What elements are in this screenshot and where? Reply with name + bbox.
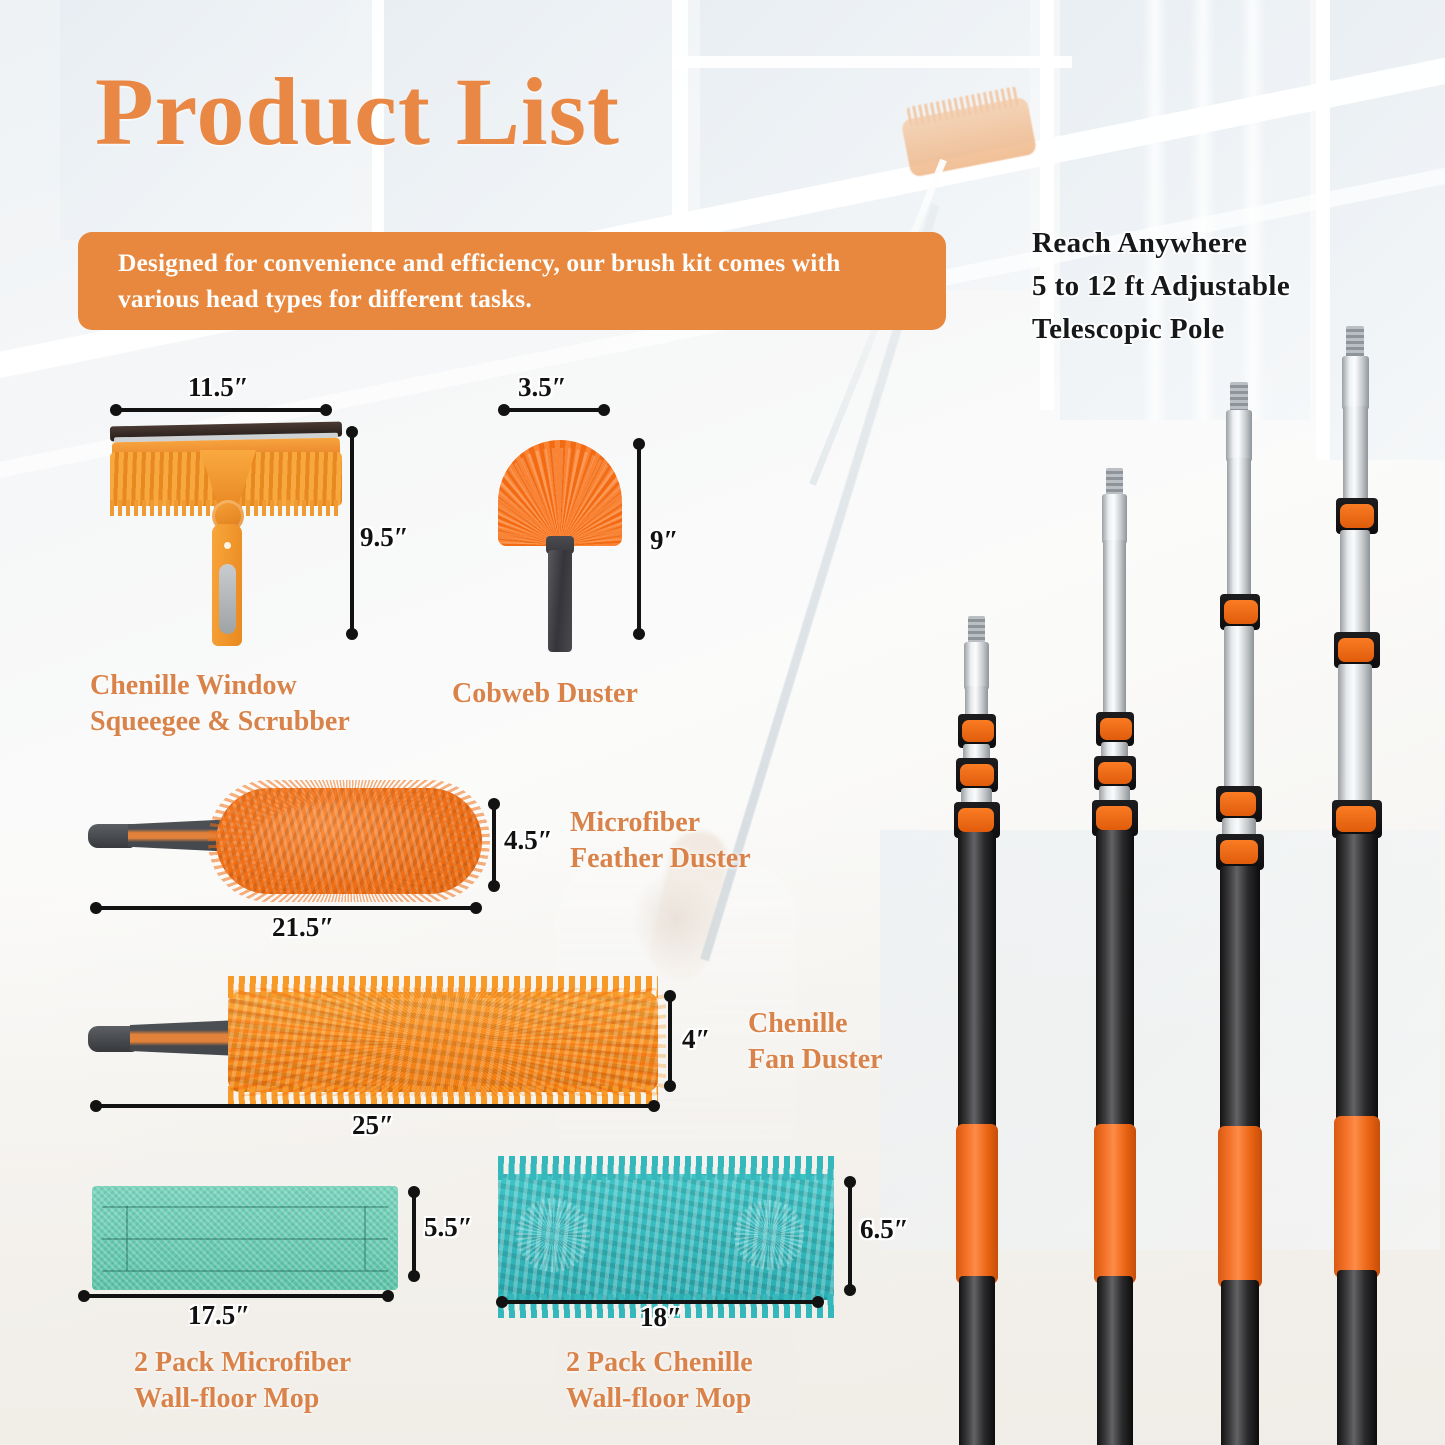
squeegee-grip-insert [219, 564, 236, 634]
dimension-line-cobweb-width [500, 408, 608, 412]
feather-duster-head [216, 788, 482, 894]
pole-1-black-shaft [958, 832, 996, 1132]
pole-1-black-shaft-lower [959, 1276, 995, 1445]
product-image-cobweb-duster [490, 440, 630, 655]
product-label-cobweb-duster: Cobweb Duster [452, 676, 638, 712]
dimension-line-fanduster-width [92, 1104, 658, 1108]
curtain-fold [1190, 0, 1216, 420]
dimension-label-chmop-height: 6.5″ [860, 1214, 909, 1245]
pole-2-clamp-lever [1096, 806, 1132, 830]
reach-line-3: Telescopic Pole [1032, 308, 1290, 351]
pole-4-clamp-lever [1336, 806, 1376, 832]
curtain-fold [1240, 0, 1266, 420]
feather-duster-end-grip [88, 824, 134, 848]
fan-duster-end-grip [88, 1026, 136, 1052]
infographic-canvas: Product List Designed for convenience an… [0, 0, 1445, 1445]
product-image-microfiber-feather-duster [88, 788, 488, 896]
dimension-label-chmop-width: 18″ [640, 1302, 682, 1333]
dimension-label-fanduster-width: 25″ [352, 1110, 394, 1141]
product-image-microfiber-mop [92, 1186, 398, 1290]
chenille-mop-swirl [734, 1200, 804, 1270]
curtain-fold [1142, 0, 1168, 420]
pole-4-chrome-ferrule [1342, 356, 1369, 410]
product-label-mfmop-line1: 2 Pack Microfiber [134, 1345, 351, 1381]
microfiber-mop-seam [102, 1206, 388, 1208]
product-label-chmop-line2: Wall-floor Mop [566, 1381, 753, 1417]
pole-1-threaded-tip [968, 616, 985, 644]
pole-4-black-shaft-lower [1337, 1270, 1377, 1445]
pole-4-clamp-lever [1338, 638, 1374, 662]
pole-2-foam-grip [1094, 1124, 1136, 1284]
squeegee-chenille-pad-left [110, 452, 218, 506]
squeegee-chenille-pad-right [238, 452, 342, 506]
dimension-line-chmop-height [848, 1178, 852, 1294]
product-label-squeegee-line2: Squeegee & Scrubber [90, 704, 350, 740]
pole-4-foam-grip [1334, 1116, 1380, 1278]
pole-1-clamp-lever [962, 720, 994, 742]
cobweb-duster-stem [548, 550, 572, 652]
dimension-label-fanduster-height: 4″ [682, 1024, 710, 1055]
product-label-cobweb-line1: Cobweb Duster [452, 676, 638, 712]
pole-4-threaded-tip [1346, 326, 1364, 358]
pole-4-aluminum-segment-mid [1340, 530, 1370, 636]
product-label-chenille-mop: 2 Pack Chenille Wall-floor Mop [566, 1345, 753, 1418]
product-label-fanduster-line2: Fan Duster [748, 1042, 883, 1078]
product-label-fanduster-line1: Chenille [748, 1006, 883, 1042]
pole-3-black-shaft [1220, 866, 1260, 1134]
dimension-line-cobweb-height [637, 440, 641, 638]
window-transom [672, 56, 1072, 68]
product-image-chenille-fan-duster [88, 988, 648, 1098]
dimension-line-fanduster-height [668, 992, 672, 1090]
chenille-mop-pad [498, 1174, 834, 1300]
page-title: Product List [95, 62, 620, 163]
telescopic-pole-2 [1084, 468, 1146, 1445]
pole-3-clamp-lever [1220, 840, 1258, 864]
dimension-label-mfmop-height: 5.5″ [424, 1212, 473, 1243]
fan-duster-handle [130, 1020, 240, 1056]
pole-3-clamp-lever [1220, 792, 1256, 816]
telescopic-pole-1 [946, 616, 1008, 1445]
dimension-label-mfmop-width: 17.5″ [188, 1300, 250, 1331]
dimension-label-cobweb-width: 3.5″ [518, 372, 567, 403]
product-label-fan-duster: Chenille Fan Duster [748, 1006, 883, 1079]
microfiber-mop-seam [364, 1206, 366, 1270]
pole-3-aluminum-segment [1227, 458, 1251, 598]
pole-4-aluminum-segment [1343, 406, 1368, 504]
pole-1-clamp-lever [960, 764, 994, 786]
product-label-chmop-line1: 2 Pack Chenille [566, 1345, 753, 1381]
telescopic-pole-3 [1206, 382, 1272, 1445]
fan-duster-tufts [228, 988, 666, 1096]
dimension-label-cobweb-height: 9″ [650, 525, 678, 556]
pole-2-black-shaft-lower [1097, 1276, 1133, 1445]
dimension-line-feather-height [492, 800, 496, 890]
pole-3-clamp-lever [1224, 600, 1258, 624]
product-label-feather-line2: Feather Duster [570, 841, 751, 877]
pole-2-black-shaft [1096, 830, 1134, 1132]
pole-1-chrome-ferrule [964, 642, 989, 690]
product-label-squeegee: Chenille Window Squeegee & Scrubber [90, 668, 350, 741]
pole-3-aluminum-segment-mid [1224, 626, 1254, 790]
microfiber-mop-seam [126, 1206, 128, 1270]
dimension-line-squeegee-width [112, 408, 330, 412]
pole-2-clamp-lever [1098, 762, 1132, 784]
product-label-feather-duster: Microfiber Feather Duster [570, 805, 751, 878]
dimension-line-mfmop-width [80, 1294, 392, 1298]
reach-line-2: 5 to 12 ft Adjustable [1032, 265, 1290, 308]
dimension-label-feather-height: 4.5″ [504, 825, 553, 856]
pole-3-chrome-ferrule [1226, 410, 1252, 462]
microfiber-mop-seam [102, 1238, 388, 1240]
pole-1-clamp-lever [958, 808, 994, 832]
pole-1-foam-grip [956, 1124, 998, 1284]
squeegee-button [224, 542, 231, 549]
description-banner: Designed for convenience and efficiency,… [78, 232, 946, 330]
description-text: Designed for convenience and efficiency,… [118, 245, 906, 317]
dimension-line-feather-width [92, 906, 480, 910]
reach-callout: Reach Anywhere 5 to 12 ft Adjustable Tel… [1032, 222, 1290, 351]
microfiber-mop-seam [102, 1270, 388, 1272]
pole-3-threaded-tip [1230, 382, 1248, 412]
dimension-label-feather-width: 21.5″ [272, 912, 334, 943]
dimension-line-squeegee-height [350, 428, 354, 638]
pole-2-aluminum-segment [1103, 540, 1126, 716]
product-image-squeegee [108, 424, 348, 646]
telescopic-pole-4 [1320, 326, 1390, 1445]
product-label-mfmop-line2: Wall-floor Mop [134, 1381, 351, 1417]
pole-2-clamp-lever [1100, 718, 1132, 740]
cobweb-duster-bristle-fan [498, 440, 622, 546]
dimension-label-squeegee-height: 9.5″ [360, 522, 409, 553]
product-label-squeegee-line1: Chenille Window [90, 668, 350, 704]
product-label-feather-line1: Microfiber [570, 805, 751, 841]
reach-line-1: Reach Anywhere [1032, 222, 1290, 265]
pole-4-black-shaft [1336, 834, 1378, 1124]
pole-2-threaded-tip [1106, 468, 1123, 496]
dimension-line-mfmop-height [412, 1188, 416, 1280]
dimension-label-squeegee-width: 11.5″ [188, 372, 249, 403]
product-image-chenille-mop [498, 1174, 834, 1300]
pole-4-clamp-lever [1340, 504, 1374, 528]
pole-2-chrome-ferrule [1102, 494, 1127, 544]
product-label-microfiber-mop: 2 Pack Microfiber Wall-floor Mop [134, 1345, 351, 1418]
pole-3-black-shaft-lower [1221, 1280, 1259, 1445]
pole-3-foam-grip [1218, 1126, 1262, 1288]
chenille-mop-swirl [516, 1198, 590, 1272]
pole-4-aluminum-segment-lower [1338, 664, 1372, 804]
